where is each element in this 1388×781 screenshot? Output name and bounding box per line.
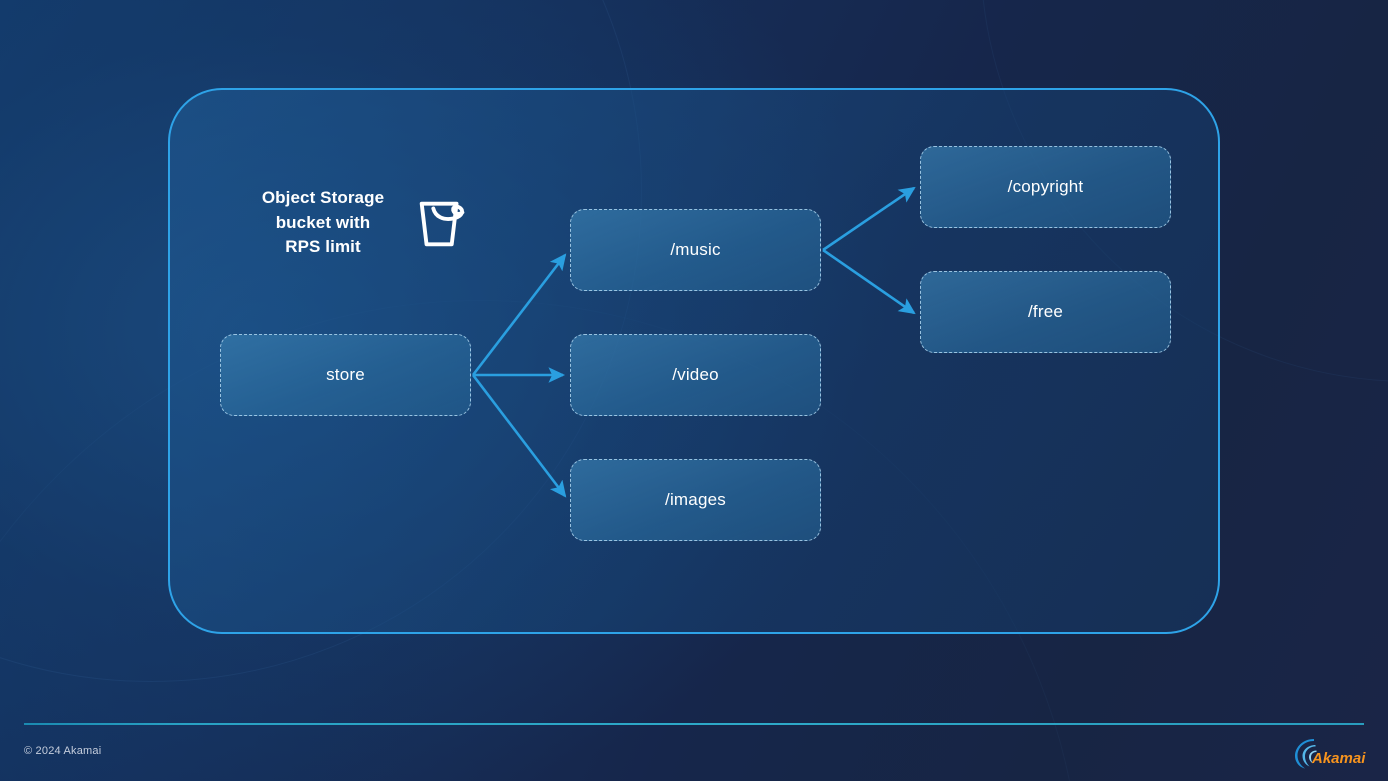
node-video-label: /video [672,365,719,385]
akamai-wordmark: Akamai [1311,750,1366,767]
node-images[interactable]: /images [570,459,821,541]
node-images-label: /images [665,490,726,510]
bucket-label-group: Object Storage bucket with RPS limit [248,178,498,268]
node-music[interactable]: /music [570,209,821,291]
bucket-caption: Object Storage bucket with RPS limit [248,186,398,260]
akamai-logo: Akamai [1292,734,1372,770]
node-store[interactable]: store [220,334,471,416]
node-music-label: /music [670,240,720,260]
footer-divider [24,723,1364,725]
node-copyright-label: /copyright [1008,177,1084,197]
slide-canvas: Object Storage bucket with RPS limit sto… [0,0,1388,781]
node-video[interactable]: /video [570,334,821,416]
node-store-label: store [326,365,365,385]
node-free-label: /free [1028,302,1063,322]
node-free[interactable]: /free [920,271,1171,353]
footer-copyright: © 2024 Akamai [24,745,101,757]
node-copyright[interactable]: /copyright [920,146,1171,228]
bucket-icon [412,192,474,254]
